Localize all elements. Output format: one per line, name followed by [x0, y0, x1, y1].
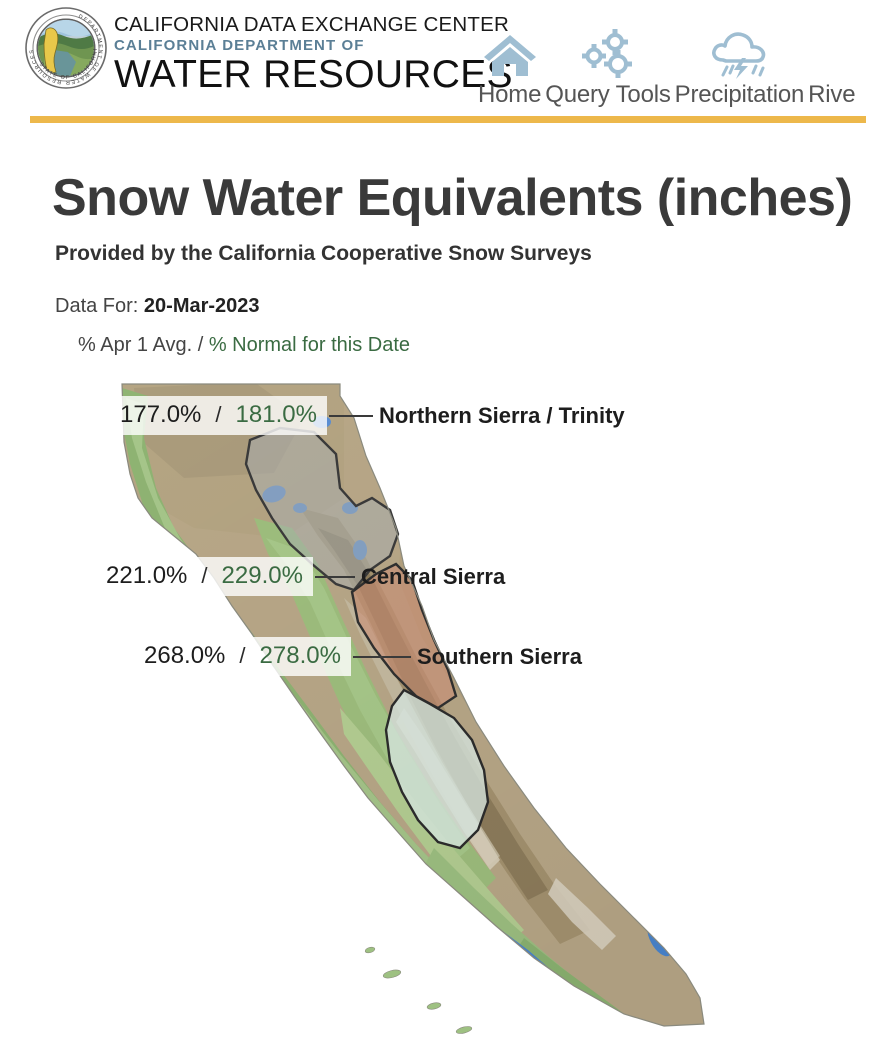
- legend-normal-for-date: % Normal for this Date: [209, 334, 410, 356]
- site-header: DEPARTMENT OF WATER RESOURCES STATE OF C…: [0, 0, 883, 112]
- leader-line-southern: [353, 656, 411, 658]
- nav-label-precipitation: Precipitation: [675, 82, 804, 108]
- org-name-water-resources: WATER RESOURCES: [114, 55, 513, 94]
- org-name-primary: CALIFORNIA DATA EXCHANGE CENTER: [114, 14, 513, 36]
- nav-label-query-tools: Query Tools: [545, 82, 670, 108]
- callout-southern-sierra[interactable]: 268.0% / 278.0% Southern Sierra: [134, 637, 582, 676]
- nav-label-home: Home: [478, 82, 541, 108]
- data-for-line: Data For: 20-Mar-2023: [55, 295, 260, 318]
- value-normal-central: 229.0%: [222, 562, 303, 590]
- data-for-value: 20-Mar-2023: [144, 295, 260, 317]
- value-normal-southern: 278.0%: [260, 642, 341, 670]
- california-dwr-seal-icon: DEPARTMENT OF WATER RESOURCES STATE OF C…: [24, 6, 108, 90]
- cloud-lightning-icon: [706, 24, 772, 80]
- region-label-southern: Southern Sierra: [417, 644, 582, 670]
- value-separator-central: /: [201, 563, 207, 589]
- main-nav[interactable]: Home: [478, 4, 859, 108]
- california-snow-map: [104, 378, 724, 1040]
- provider-subtitle: Provided by the California Cooperative S…: [55, 242, 592, 266]
- callout-values-southern: 268.0% / 278.0%: [134, 637, 351, 676]
- value-separator-southern: /: [239, 643, 245, 669]
- nav-item-precipitation[interactable]: Precipitation: [675, 24, 804, 108]
- nav-label-rivers: Rive: [808, 82, 855, 108]
- brand-block[interactable]: DEPARTMENT OF WATER RESOURCES STATE OF C…: [24, 6, 513, 94]
- leader-line-northern: [329, 415, 373, 417]
- header-accent-rule: [30, 116, 866, 123]
- map-svg: [104, 378, 724, 1040]
- value-separator-northern: /: [215, 402, 221, 428]
- callout-northern-sierra-trinity[interactable]: 177.0% / 181.0% Northern Sierra / Trinit…: [110, 396, 625, 435]
- channel-islands: [364, 946, 472, 1035]
- value-normal-northern: 181.0%: [236, 401, 317, 429]
- nav-item-home[interactable]: Home: [478, 24, 541, 108]
- data-for-label: Data For:: [55, 295, 138, 317]
- value-apr1-avg-northern: 177.0%: [120, 401, 201, 429]
- leader-line-central: [315, 576, 355, 578]
- home-icon: [481, 24, 539, 80]
- region-label-central: Central Sierra: [361, 564, 505, 590]
- callout-values-central: 221.0% / 229.0%: [96, 557, 313, 596]
- value-apr1-avg-central: 221.0%: [106, 562, 187, 590]
- callout-values-northern: 177.0% / 181.0%: [110, 396, 327, 435]
- value-apr1-avg-southern: 268.0%: [144, 642, 225, 670]
- gears-icon: [577, 24, 639, 80]
- brand-text: CALIFORNIA DATA EXCHANGE CENTER CALIFORN…: [114, 6, 513, 94]
- legend-line: % Apr 1 Avg. / % Normal for this Date: [78, 334, 410, 357]
- nav-item-query-tools[interactable]: Query Tools: [545, 24, 670, 108]
- page-title: Snow Water Equivalents (inches): [52, 168, 852, 228]
- region-label-northern: Northern Sierra / Trinity: [379, 403, 625, 429]
- nav-item-rivers[interactable]: Rive: [808, 24, 855, 108]
- legend-apr1-avg: % Apr 1 Avg. /: [78, 334, 203, 356]
- callout-central-sierra[interactable]: 221.0% / 229.0% Central Sierra: [96, 557, 505, 596]
